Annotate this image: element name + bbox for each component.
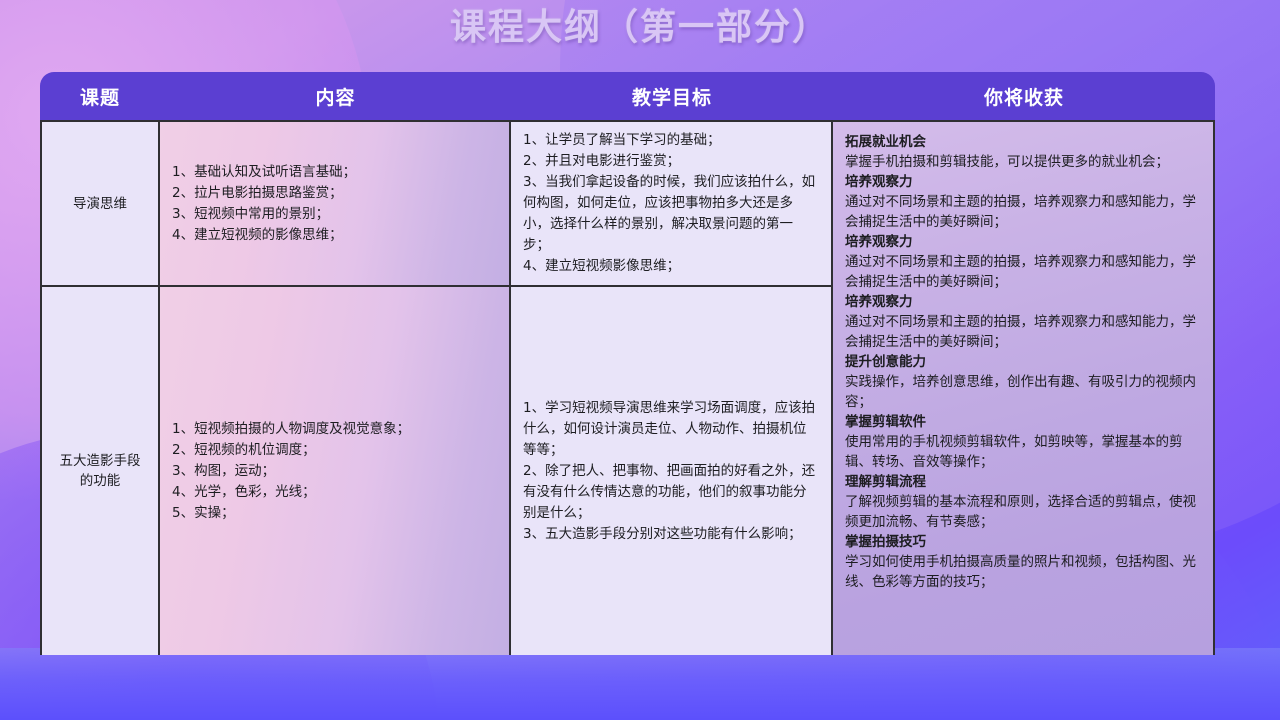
content-line: 4、光学，色彩，光线； [172,482,497,503]
column-header-topic: 课题 [40,72,160,120]
content-line: 1、短视频拍摄的人物调度及视觉意象； [172,419,497,440]
topic-label-row2-line1: 五大造影手段 [60,451,141,471]
gain-heading: 拓展就业机会 [845,132,1201,152]
gain-body: 实践操作，培养创意思维，创作出有趣、有吸引力的视频内容； [845,372,1201,412]
slide-canvas: 课程大纲（第一部分） 课题 内容 教学目标 你将收获 导演思维 五大造影手段 的… [0,0,1280,720]
table-row: 1、让学员了解当下学习的基础； 2、并且对电影进行鉴赏； 3、当我们拿起设备的时… [511,122,831,287]
content-line: 2、拉片电影拍摄思路鉴赏； [172,183,497,204]
goal-line: 2、并且对电影进行鉴赏； [523,151,819,172]
gain-body: 掌握手机拍摄和剪辑技能，可以提供更多的就业机会； [845,152,1201,172]
goal-line: 3、当我们拿起设备的时候，我们应该拍什么，如何构图，如何走位，应该把事物拍多大还… [523,172,819,256]
gain-heading: 掌握拍摄技巧 [845,532,1201,552]
column-header-content: 内容 [160,72,511,120]
topic-label-row2-line2: 的功能 [60,471,141,491]
background-bottom-band [0,648,1280,720]
gain-heading: 理解剪辑流程 [845,472,1201,492]
content-line: 3、短视频中常用的景别； [172,204,497,225]
gain-body: 学习如何使用手机拍摄高质量的照片和视频，包括构图、光线、色彩等方面的技巧； [845,552,1201,592]
gain-body: 通过对不同场景和主题的拍摄，培养观察力和感知能力，学会捕捉生活中的美好瞬间； [845,312,1201,352]
column-topic: 导演思维 五大造影手段 的功能 [40,122,160,655]
column-content: 1、基础认知及试听语言基础； 2、拉片电影拍摄思路鉴赏； 3、短视频中常用的景别… [160,122,511,655]
column-goal: 1、让学员了解当下学习的基础； 2、并且对电影进行鉴赏； 3、当我们拿起设备的时… [511,122,833,655]
gain-heading: 掌握剪辑软件 [845,412,1201,432]
gain-merged-cell: 拓展就业机会 掌握手机拍摄和剪辑技能，可以提供更多的就业机会； 培养观察力 通过… [833,122,1213,655]
table-row: 1、短视频拍摄的人物调度及视觉意象； 2、短视频的机位调度； 3、构图，运动； … [160,287,509,655]
column-header-gain: 你将收获 [833,72,1215,120]
topic-label-row1: 导演思维 [73,194,127,214]
goal-line: 1、让学员了解当下学习的基础； [523,130,819,151]
column-header-goal: 教学目标 [511,72,833,120]
goal-line: 1、学习短视频导演思维来学习场面调度，应该拍什么，如何设计演员走位、人物动作、拍… [523,398,819,461]
table-row: 导演思维 [42,122,158,287]
goal-line: 2、除了把人、把事物、把画面拍的好看之外，还有没有什么传情达意的功能，他们的叙事… [523,461,819,524]
column-gain: 拓展就业机会 掌握手机拍摄和剪辑技能，可以提供更多的就业机会； 培养观察力 通过… [833,122,1215,655]
goal-line: 3、五大造影手段分别对这些功能有什么影响； [523,524,819,545]
gain-heading: 提升创意能力 [845,352,1201,372]
gain-body: 通过对不同场景和主题的拍摄，培养观察力和感知能力，学会捕捉生活中的美好瞬间； [845,192,1201,232]
table-body: 导演思维 五大造影手段 的功能 1、基础认知及试听语言基础； 2、拉片电影拍摄思… [40,120,1215,655]
content-line: 1、基础认知及试听语言基础； [172,162,497,183]
gain-body: 使用常用的手机视频剪辑软件，如剪映等，掌握基本的剪辑、转场、音效等操作； [845,432,1201,472]
gain-heading: 培养观察力 [845,172,1201,192]
table-row: 1、学习短视频导演思维来学习场面调度，应该拍什么，如何设计演员走位、人物动作、拍… [511,287,831,655]
content-line: 2、短视频的机位调度； [172,440,497,461]
content-line: 3、构图，运动； [172,461,497,482]
table-row: 1、基础认知及试听语言基础； 2、拉片电影拍摄思路鉴赏； 3、短视频中常用的景别… [160,122,509,287]
outline-table: 课题 内容 教学目标 你将收获 导演思维 五大造影手段 的功能 [40,72,1215,655]
goal-line: 4、建立短视频影像思维； [523,256,819,277]
gain-body: 通过对不同场景和主题的拍摄，培养观察力和感知能力，学会捕捉生活中的美好瞬间； [845,252,1201,292]
gain-heading: 培养观察力 [845,232,1201,252]
gain-heading: 培养观察力 [845,292,1201,312]
table-header-row: 课题 内容 教学目标 你将收获 [40,72,1215,120]
topic-label-row2: 五大造影手段 的功能 [60,451,141,491]
table-row: 五大造影手段 的功能 [42,287,158,655]
slide-title: 课程大纲（第一部分） [0,4,1280,52]
gain-body: 了解视频剪辑的基本流程和原则，选择合适的剪辑点，使视频更加流畅、有节奏感； [845,492,1201,532]
content-line: 5、实操； [172,503,497,524]
content-line: 4、建立短视频的影像思维； [172,225,497,246]
